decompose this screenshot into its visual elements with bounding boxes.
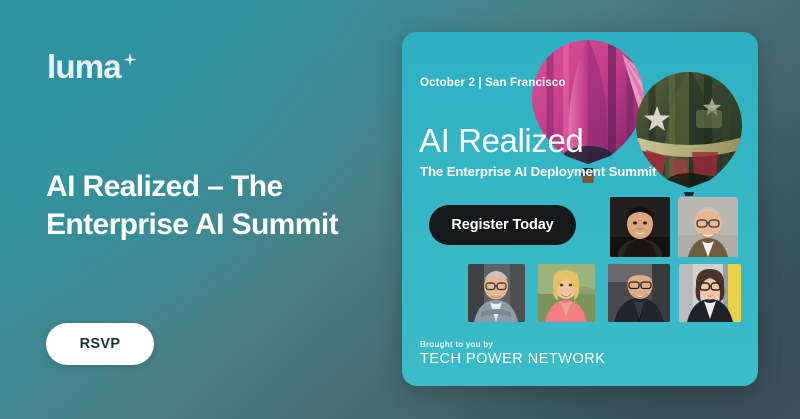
footer-sponsor-name: TECH POWER NETWORK: [420, 351, 605, 367]
event-flyer-card[interactable]: October 2 | San Francisco AI Realized Th…: [402, 32, 758, 386]
speaker-headshot: [608, 264, 670, 322]
register-today-button[interactable]: Register Today: [429, 205, 576, 245]
event-date-location: October 2 | San Francisco: [420, 77, 566, 89]
sparkle-icon: [122, 52, 138, 68]
left-panel: luma AI Realized – The Enterprise AI Sum…: [0, 0, 400, 419]
speaker-headshot: [679, 264, 741, 322]
event-title: AI Realized: [419, 124, 583, 157]
luma-logo[interactable]: luma: [47, 50, 138, 83]
speaker-headshot: [468, 264, 525, 322]
footer-kicker: Brought to you by: [420, 340, 605, 349]
luma-wordmark: luma: [47, 50, 121, 83]
event-share-card-page: luma AI Realized – The Enterprise AI Sum…: [0, 0, 800, 419]
card-footer: Brought to you by TECH POWER NETWORK: [420, 340, 605, 367]
rsvp-button[interactable]: RSVP: [46, 323, 154, 365]
speaker-headshot: [538, 264, 595, 322]
speaker-headshot: [678, 197, 738, 257]
event-subtitle: The Enterprise AI Deployment Summit: [420, 164, 656, 179]
page-title: AI Realized – The Enterprise AI Summit: [46, 168, 396, 244]
speaker-headshot: [610, 197, 670, 257]
